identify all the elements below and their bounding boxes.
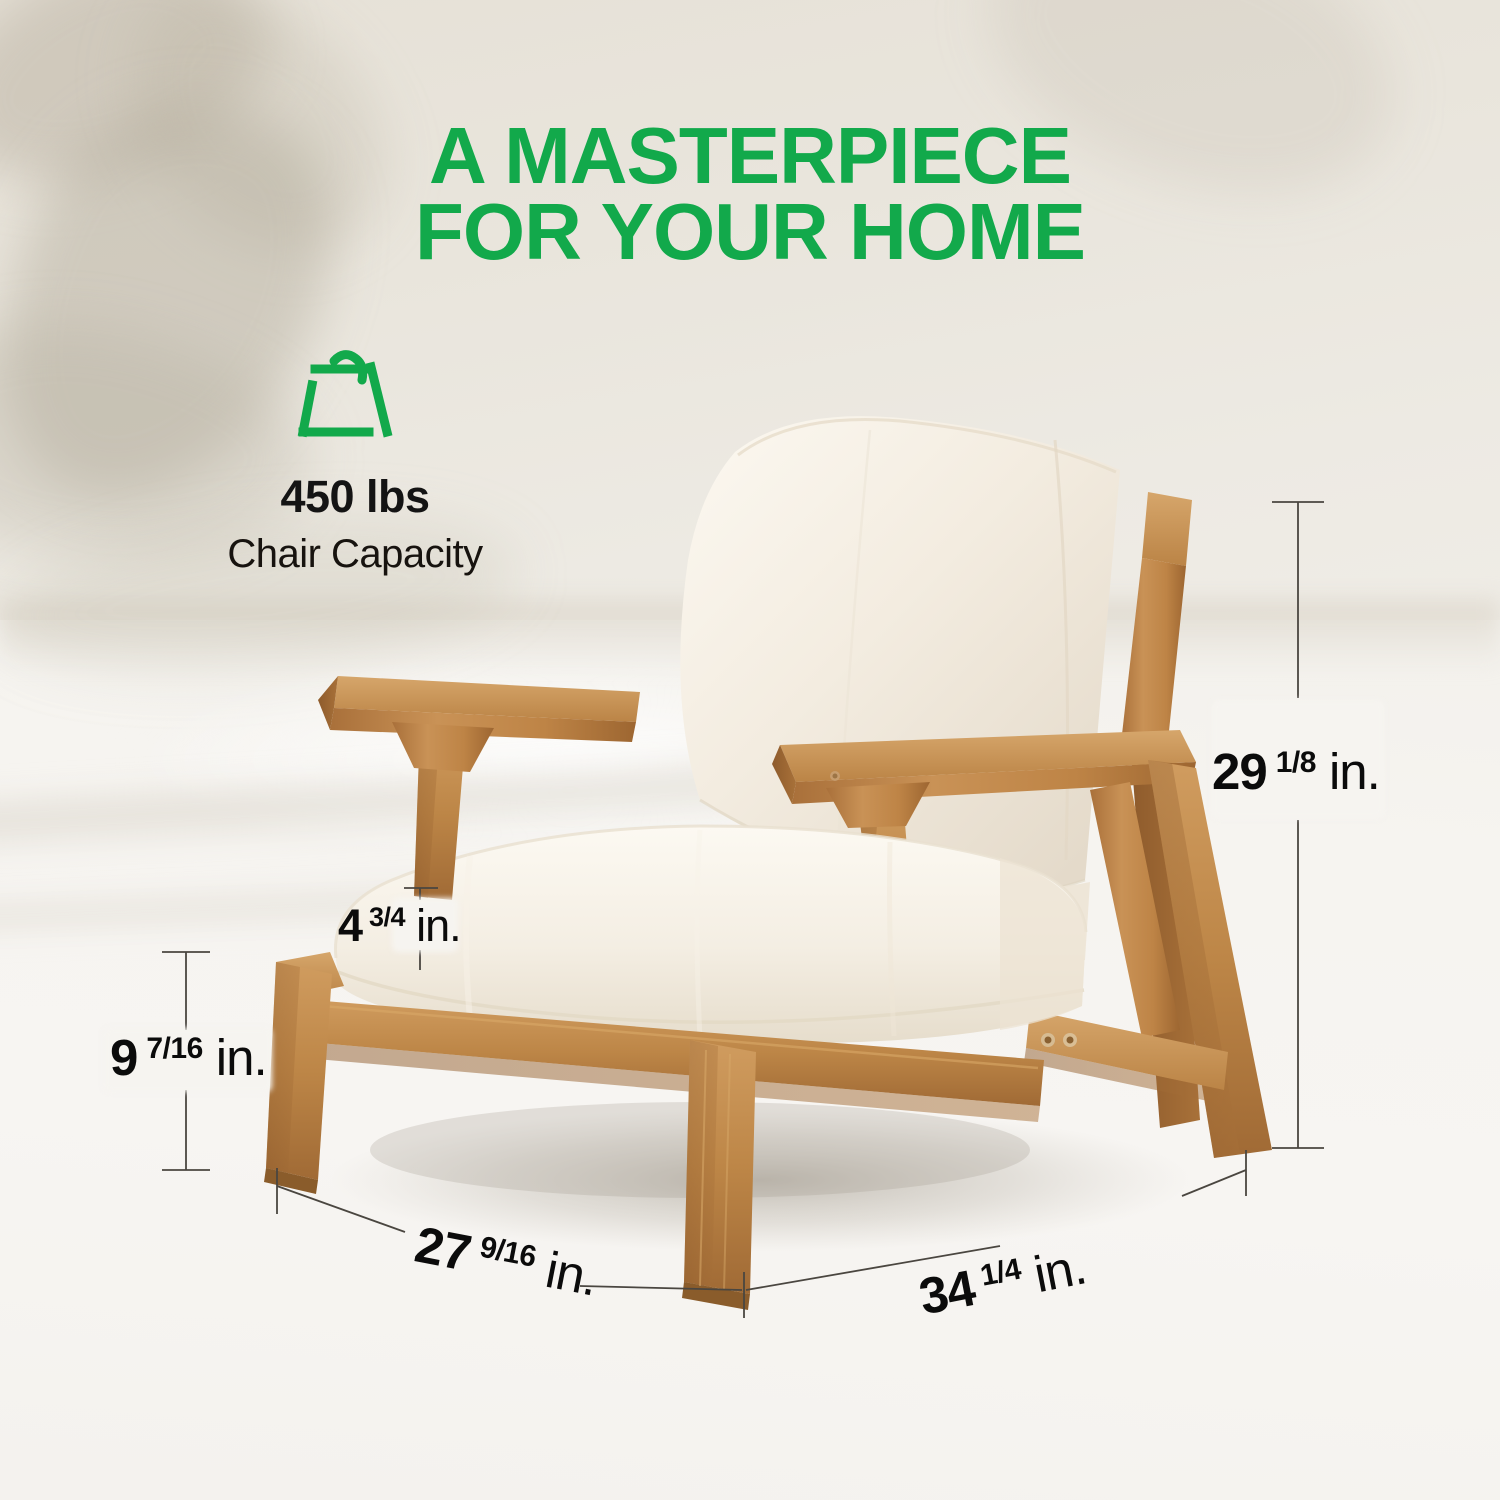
dimension-number: 29 [1212, 742, 1267, 801]
dimension-fraction: 3/4 [369, 902, 405, 933]
dimension-fraction: 1/8 [1276, 746, 1316, 780]
dimension-number: 34 [914, 1258, 979, 1326]
dimension-line-depth [277, 1186, 405, 1232]
dimension-unit: in. [1329, 742, 1380, 801]
dimension-label-seat-height: 9 7/16 in. [110, 1028, 267, 1087]
dimension-number: 9 [110, 1028, 137, 1087]
dimension-fraction: 7/16 [146, 1032, 202, 1066]
dimension-fraction: 1/4 [978, 1253, 1024, 1294]
dimension-unit: in. [1029, 1237, 1090, 1305]
dimension-fraction: 9/16 [477, 1231, 539, 1275]
dimension-unit: in. [216, 1028, 267, 1087]
dimension-line-width [1182, 1170, 1246, 1196]
dimension-line-depth [580, 1286, 742, 1290]
dimension-unit: in. [416, 900, 461, 952]
dimension-number: 27 [410, 1215, 475, 1283]
dimension-number: 4 [338, 900, 362, 952]
dimension-label-cushion-thickness: 4 3/4 in. [338, 900, 461, 952]
dimension-label-overall-height: 29 1/8 in. [1212, 742, 1380, 801]
